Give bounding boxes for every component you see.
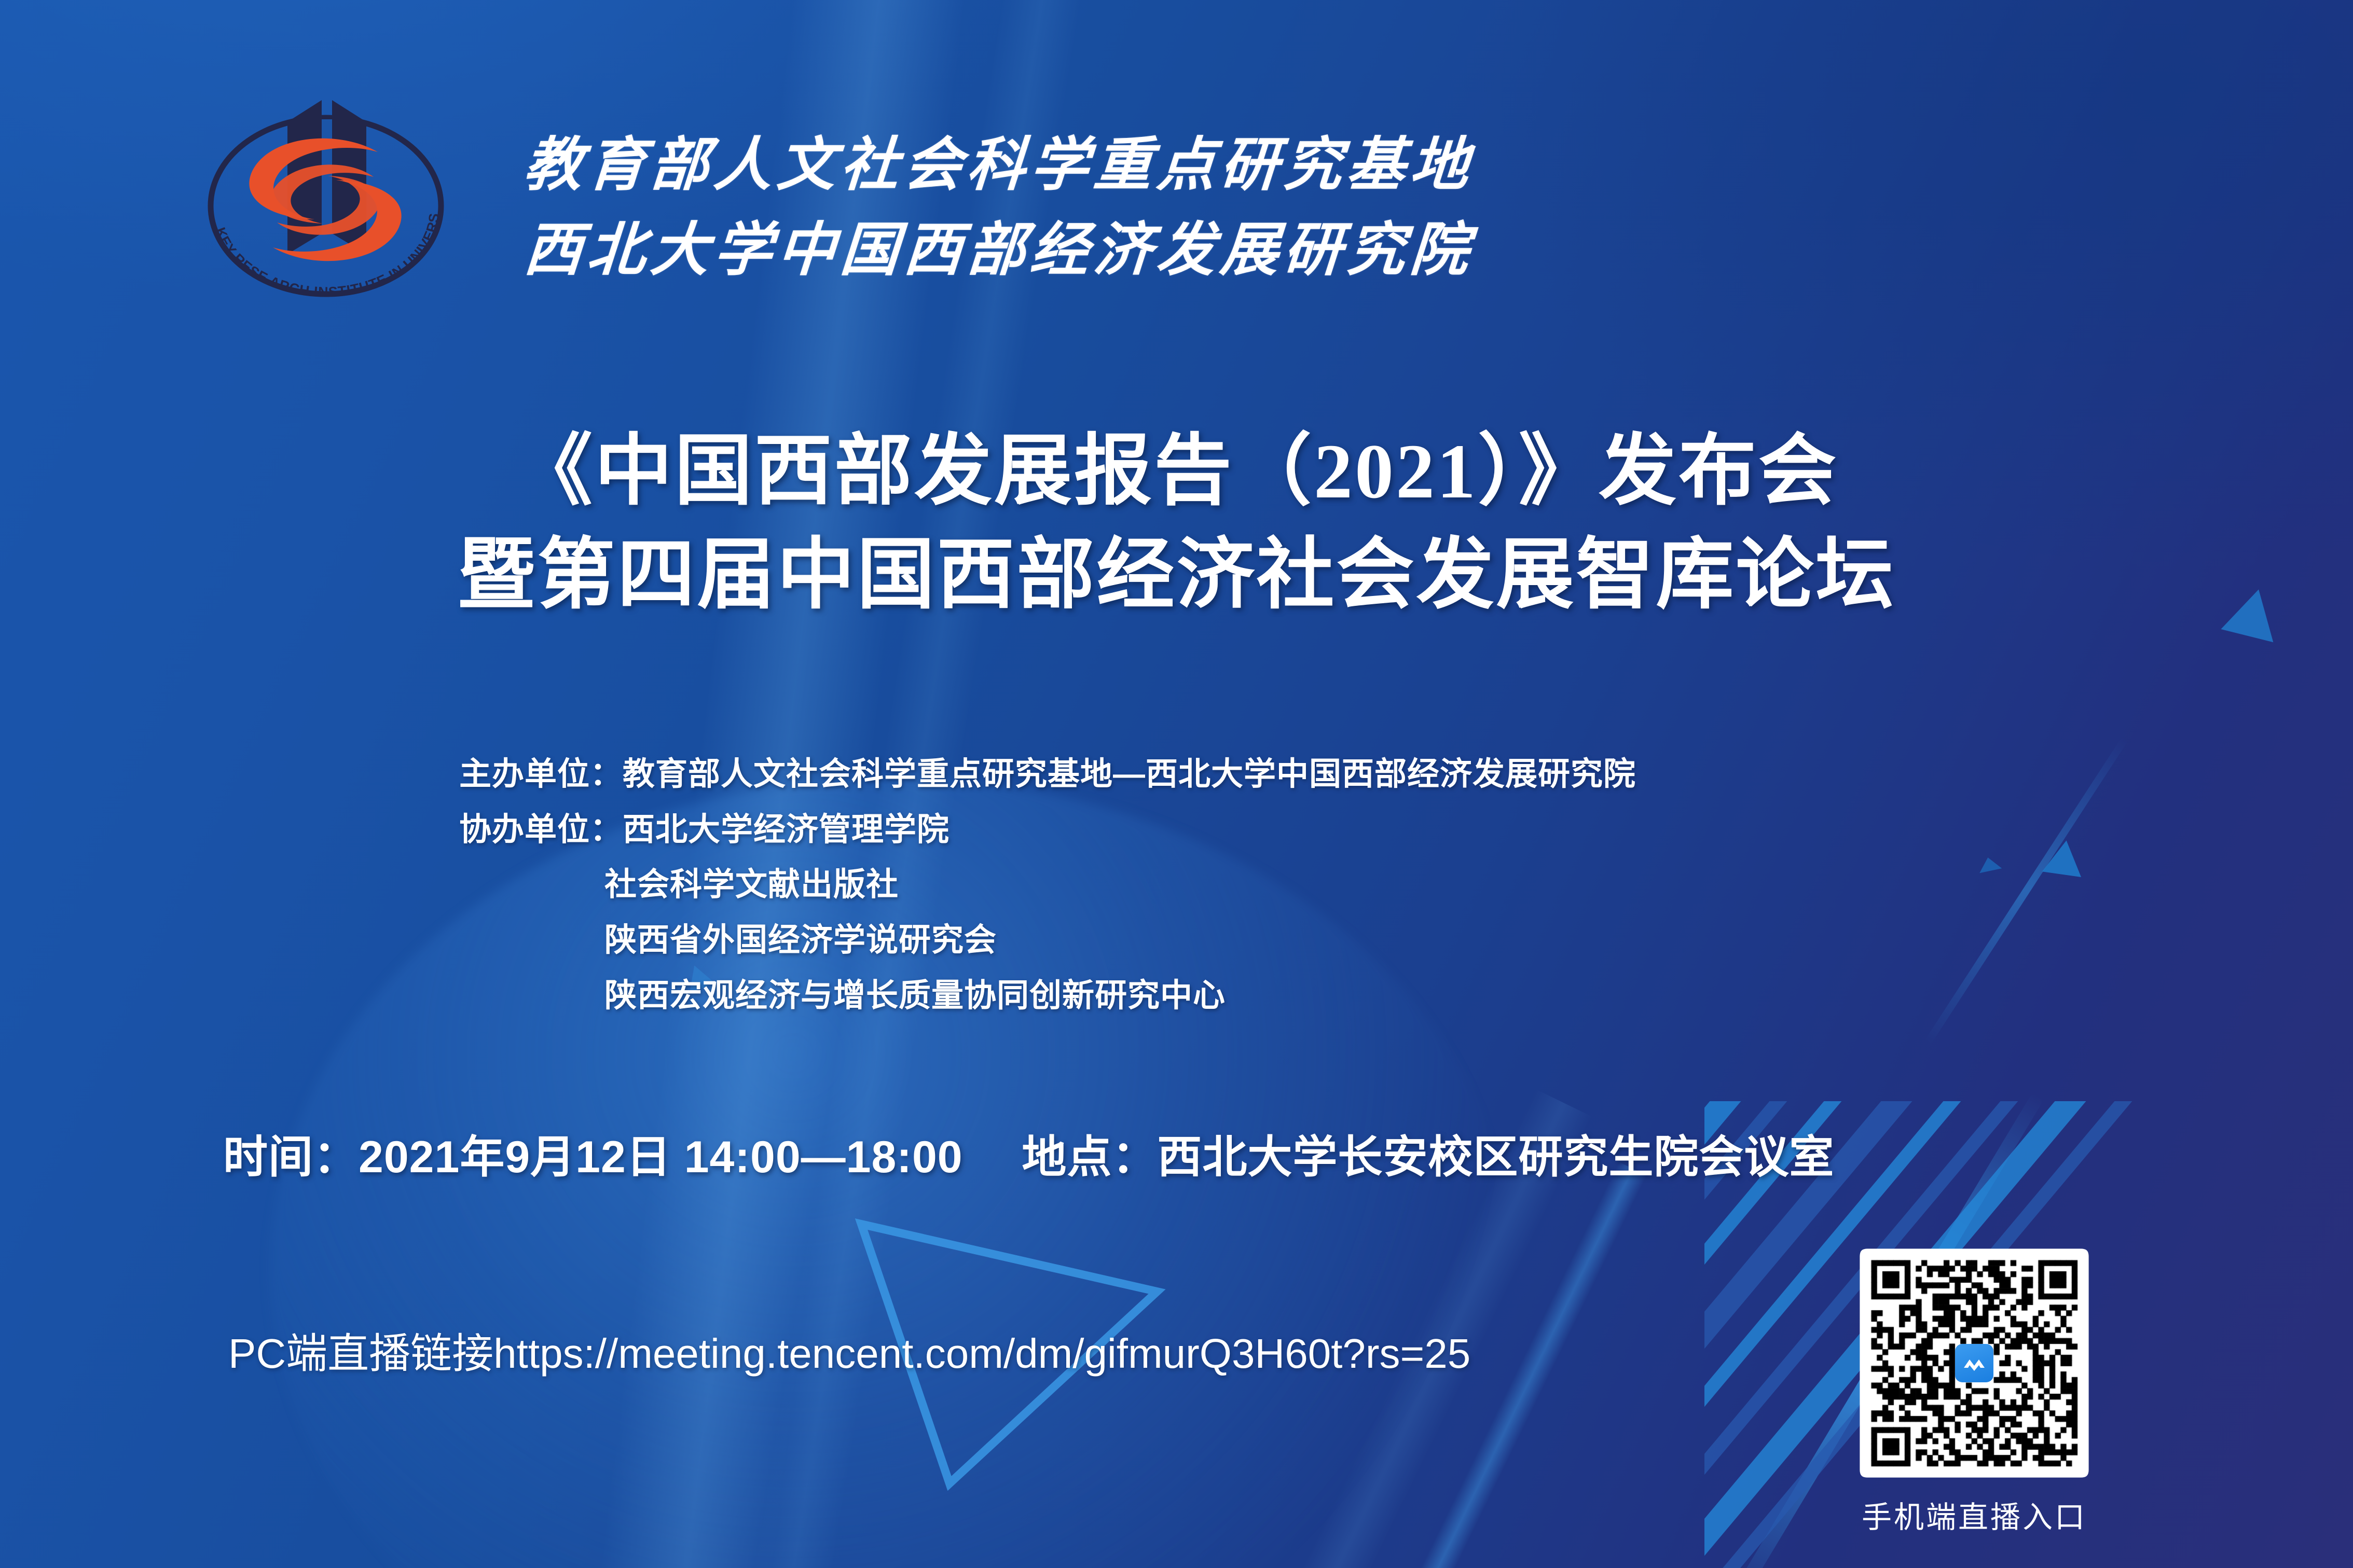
title-line-1: 《中国西部发展报告（2021）》发布会 — [0, 420, 2353, 524]
event-place: 地点：西北大学长安校区研究生院会议室 — [1022, 1132, 1834, 1182]
background-triangle-1 — [2042, 838, 2086, 877]
qr-caption: 手机端直播入口 — [1860, 1493, 2088, 1536]
title-line-2: 暨第四届中国西部经济社会发展智库论坛 — [0, 524, 2353, 628]
pc-live-link[interactable]: PC端直播链接https://meeting.tencent.com/dm/gi… — [228, 1320, 1470, 1380]
poster-canvas: KEY RESE ARCH INSTITUTE IN UNIVERSITY 教育… — [0, 0, 2353, 1568]
event-meta: 时间：2021年9月12日 14:00—18:00 地点：西北大学长安校区研究生… — [223, 1120, 1834, 1185]
tencent-meeting-icon — [1955, 1344, 1993, 1382]
event-title: 《中国西部发展报告（2021）》发布会 暨第四届中国西部经济社会发展智库论坛 — [0, 420, 2353, 627]
organizers-block: 主办单位：教育部人文社会科学重点研究基地—西北大学中国西部经济发展研究院 协办单… — [459, 747, 1636, 1023]
co-organizer-line-2: 社会科学文献出版社 — [459, 857, 1636, 913]
header-line-2: 西北大学中国西部经济发展研究院 — [521, 209, 1772, 294]
host-organizer-line: 主办单位：教育部人文社会科学重点研究基地—西北大学中国西部经济发展研究院 — [459, 747, 1636, 802]
header-line-1: 教育部人文社会科学重点研究基地 — [521, 123, 1772, 209]
qr-code[interactable] — [1860, 1249, 2088, 1477]
co-organizer-line-1: 协办单位：西北大学经济管理学院 — [459, 802, 1636, 858]
co-organizer-line-4: 陕西宏观经济与增长质量协同创新研究中心 — [459, 968, 1636, 1024]
institute-header: 教育部人文社会科学重点研究基地 西北大学中国西部经济发展研究院 — [524, 123, 1769, 293]
co-organizer-line-3: 陕西省外国经济学说研究会 — [459, 913, 1636, 968]
event-time: 时间：2021年9月12日 14:00—18:00 — [223, 1132, 963, 1182]
institute-logo: KEY RESE ARCH INSTITUTE IN UNIVERSITY — [191, 91, 461, 324]
mobile-live-entry: 手机端直播入口 — [1860, 1249, 2088, 1536]
